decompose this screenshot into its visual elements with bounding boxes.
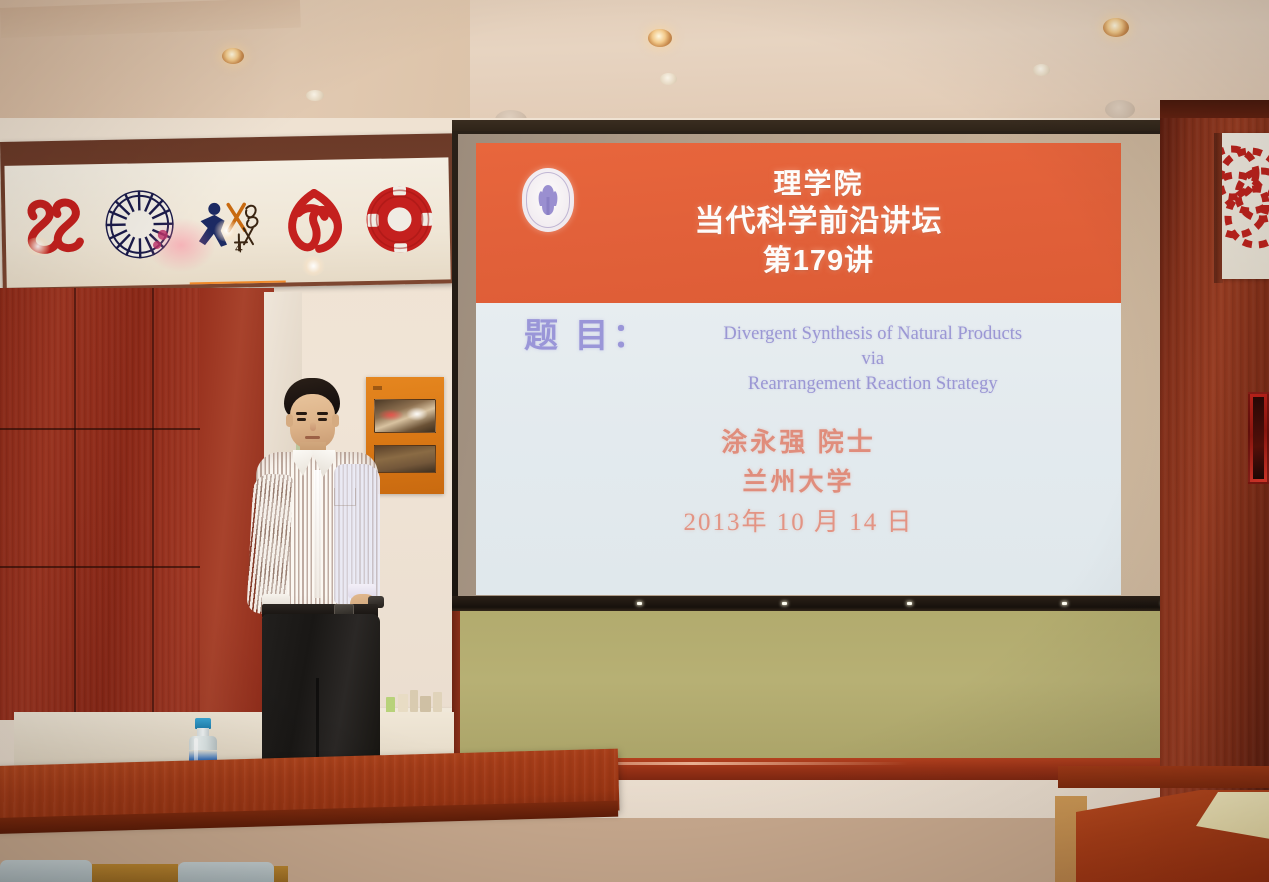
presenter-shirt-pocket	[334, 488, 356, 506]
slide-topic-label: 题 目：	[524, 317, 651, 357]
red-ring-torus-icon	[363, 183, 436, 256]
presenter-eye	[297, 418, 306, 421]
slide-speaker-block: 涂永强 院士 兰州大学 2013年 10 月 14 日	[476, 423, 1121, 543]
slide-body: 题 目： Divergent Synthesis of Natural Prod…	[476, 303, 1121, 595]
minilight-icon	[660, 73, 677, 85]
presenter-brow	[317, 412, 328, 415]
slide-topic-line2: via	[651, 347, 1096, 372]
presenter-shirt-right-side	[334, 464, 380, 604]
presenter-mouth	[305, 436, 320, 439]
slide-date: 2013年 10 月 14 日	[476, 503, 1121, 543]
red-framed-fire-panel	[1248, 392, 1269, 484]
cabinet-item	[410, 690, 418, 712]
interlocked-heart-knot-icon	[19, 189, 90, 262]
slide-topic-text: Divergent Synthesis of Natural Products …	[651, 317, 1096, 397]
presenter-ear	[286, 414, 293, 427]
downlight-icon	[1103, 18, 1129, 37]
chair	[178, 862, 274, 882]
slide-header-line2: 当代科学前沿讲坛	[516, 202, 1121, 242]
university-tulip-emblem-icon	[522, 168, 574, 232]
slide-header: 理学院 当代科学前沿讲坛 第179讲	[476, 143, 1121, 303]
screen-bottom-bar	[452, 596, 1178, 612]
presenter-eye	[318, 418, 327, 421]
presenter-shirt-placket	[314, 470, 321, 598]
slide-header-title: 理学院 当代科学前沿讲坛 第179讲	[476, 166, 1121, 280]
cabinet-item	[420, 696, 431, 712]
trefoil-knot-icon	[275, 182, 352, 259]
chair	[0, 860, 92, 882]
slide-speaker-name: 涂永强 院士	[476, 423, 1121, 463]
slide-topic-line1: Divergent Synthesis of Natural Products	[723, 324, 1022, 344]
slide-header-line1: 理学院	[516, 166, 1121, 202]
cabinet-item	[433, 692, 442, 712]
slide-topic-row: 题 目： Divergent Synthesis of Natural Prod…	[476, 317, 1121, 397]
presenter-ear	[332, 414, 339, 427]
red-knot-artwork	[1222, 133, 1269, 279]
slide-topic-line3: Rearrangement Reaction Strategy	[748, 374, 998, 394]
banner-inner: 4	[4, 157, 450, 288]
panel-white-reflection	[406, 407, 428, 421]
minilight-icon	[1033, 64, 1050, 76]
svg-text:4: 4	[235, 240, 243, 256]
minilight-icon	[306, 90, 324, 101]
projected-slide: 理学院 当代科学前沿讲坛 第179讲 题 目： Divergent Synthe…	[476, 143, 1121, 595]
chair-gap	[92, 864, 178, 882]
downlight-icon	[222, 48, 244, 64]
cabinet-item	[398, 694, 408, 712]
presenter-brow	[296, 412, 307, 415]
downlight-icon	[648, 29, 672, 47]
slide-header-line3: 第179讲	[516, 242, 1121, 280]
lecture-hall-photo: 4	[0, 0, 1269, 882]
slide-speaker-affiliation: 兰州大学	[476, 463, 1121, 503]
right-desk-rail	[1058, 766, 1269, 788]
banner-motifs: 4	[4, 157, 450, 288]
banner-label: math attack	[190, 281, 286, 288]
olive-wall-panel	[452, 611, 1178, 766]
ceiling-speaker-icon	[1105, 100, 1135, 119]
chair-gap	[274, 866, 288, 882]
presenter-nose	[310, 422, 316, 431]
presenter	[238, 378, 388, 788]
math-art-banner: 4	[0, 133, 455, 292]
